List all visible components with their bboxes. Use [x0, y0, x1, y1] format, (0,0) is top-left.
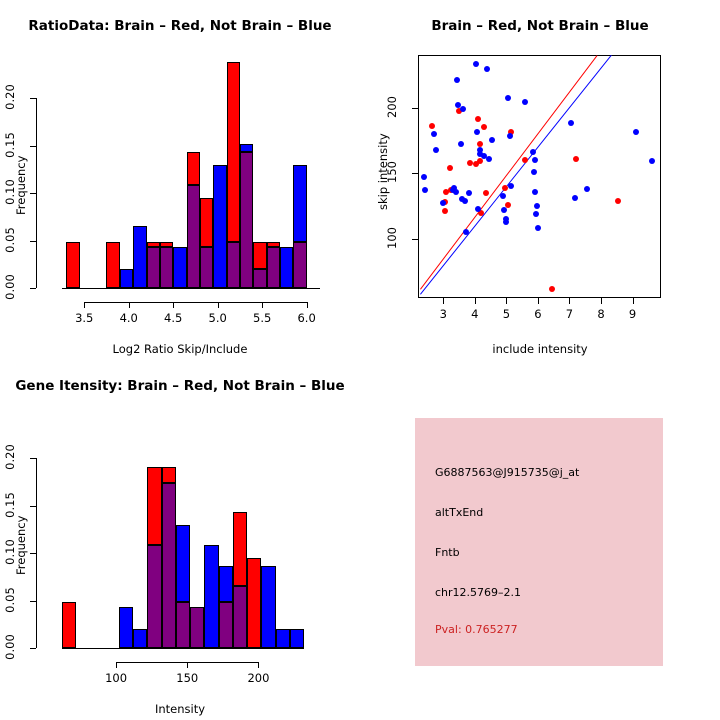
- scatter-point: [489, 137, 495, 143]
- scatter-point: [429, 123, 435, 129]
- scatter-point: [522, 99, 528, 105]
- y-tick-label: 200: [385, 89, 399, 125]
- y-tick: [30, 241, 36, 242]
- hist-bar: [162, 467, 176, 483]
- x-tick: [538, 298, 539, 304]
- scatter-point: [483, 190, 489, 196]
- hist-bar: [240, 144, 253, 153]
- hist-bar-overlap: [160, 247, 173, 288]
- x-tick-label: 3.5: [62, 311, 106, 325]
- x-baseline: [62, 648, 304, 649]
- scatter-point: [532, 157, 538, 163]
- scatter-point: [649, 158, 655, 164]
- y-tick-label: 150: [385, 154, 399, 190]
- scatter-point: [473, 61, 479, 67]
- scatter-point: [549, 286, 555, 292]
- y-tick-label: 100: [385, 220, 399, 256]
- y-tick: [30, 648, 36, 649]
- y-tick: [30, 146, 36, 147]
- y-tick: [30, 288, 36, 289]
- hist-bar: [261, 566, 275, 648]
- x-tick: [443, 298, 444, 304]
- scatter-point: [447, 165, 453, 171]
- y-axis-line: [36, 458, 37, 648]
- y-tick-label: 0.15: [3, 487, 17, 523]
- scatter-point: [442, 208, 448, 214]
- panel-ratio-histogram: RatioData: Brain – Red, Not Brain – Blue…: [0, 0, 360, 360]
- x-tick-label: 4.0: [107, 311, 151, 325]
- x-tick-label: 5.0: [196, 311, 240, 325]
- scatter-point: [532, 189, 538, 195]
- y-tick: [412, 108, 418, 109]
- scatter-point: [477, 158, 483, 164]
- scatter-point: [502, 185, 508, 191]
- scatter-point: [507, 133, 513, 139]
- x-axis-line: [84, 302, 306, 303]
- scatter-point: [533, 211, 539, 217]
- scatter-point: [505, 95, 511, 101]
- scatter-point: [475, 116, 481, 122]
- scatter-point: [584, 186, 590, 192]
- hist-bar: [200, 198, 213, 247]
- scatter-point: [477, 147, 483, 153]
- hist-bar-overlap: [267, 247, 280, 288]
- y-tick-label: 0.00: [3, 269, 17, 305]
- y-tick: [30, 506, 36, 507]
- x-tick: [258, 662, 259, 668]
- hist-bar: [120, 269, 133, 288]
- x-tick: [218, 302, 219, 308]
- info-gene-symbol: Fntb: [435, 546, 460, 559]
- hist-bar: [290, 629, 304, 648]
- x-tick-label: 9: [615, 307, 651, 321]
- scatter-point: [421, 174, 427, 180]
- y-tick: [30, 193, 36, 194]
- scatter-point: [460, 106, 466, 112]
- hist-bar-overlap: [147, 247, 160, 288]
- figure-canvas: RatioData: Brain – Red, Not Brain – Blue…: [0, 0, 720, 720]
- hist-bar: [133, 629, 147, 648]
- y-tick: [30, 601, 36, 602]
- x-tick: [601, 298, 602, 304]
- ratio-plot-area: 0.000.050.100.150.203.54.04.55.05.56.0: [0, 0, 360, 360]
- x-tick: [187, 662, 188, 668]
- scatter-point: [633, 129, 639, 135]
- info-event-type: altTxEnd: [435, 506, 483, 519]
- scatter-point: [573, 156, 579, 162]
- x-tick: [506, 298, 507, 304]
- info-box: G6887563@J915735@j_at altTxEnd Fntb chr1…: [415, 418, 663, 666]
- y-tick-label: 0.20: [3, 79, 17, 115]
- hist-bar: [62, 602, 76, 648]
- scatter-point: [454, 77, 460, 83]
- scatter-point: [568, 120, 574, 126]
- scatter-point: [466, 190, 472, 196]
- scatter-point: [486, 156, 492, 162]
- y-tick: [412, 173, 418, 174]
- x-tick-label: 6.0: [285, 311, 329, 325]
- hist-bar-overlap: [162, 483, 176, 648]
- x-baseline: [62, 288, 320, 289]
- hist-bar: [213, 165, 226, 289]
- x-tick: [307, 302, 308, 308]
- hist-bar: [147, 467, 161, 546]
- scatter-point: [481, 124, 487, 130]
- hist-bar-overlap: [233, 586, 247, 648]
- scatter-point: [500, 193, 506, 199]
- info-pval: Pval: 0.765277: [435, 623, 518, 636]
- x-tick-label: 200: [236, 671, 280, 685]
- gene-plot-area: 0.000.050.100.150.20100150200: [0, 360, 360, 720]
- scatter-point: [422, 187, 428, 193]
- hist-bar: [187, 152, 200, 185]
- y-tick-label: 0.10: [3, 534, 17, 570]
- y-tick: [412, 239, 418, 240]
- scatter-point: [503, 219, 509, 225]
- scatter-point: [467, 160, 473, 166]
- scatter-point: [530, 149, 536, 155]
- hist-bar-overlap: [187, 185, 200, 288]
- hist-bar: [133, 226, 146, 288]
- hist-bar: [247, 558, 261, 648]
- info-probe-id: G6887563@J915735@j_at: [435, 466, 579, 479]
- scatter-point: [440, 200, 446, 206]
- hist-bar-overlap: [227, 242, 240, 288]
- hist-bar-overlap: [293, 242, 306, 288]
- regression-line: [420, 55, 612, 295]
- y-tick: [30, 458, 36, 459]
- hist-bar: [293, 165, 306, 243]
- scatter-point: [534, 203, 540, 209]
- x-tick-label: 5.5: [240, 311, 284, 325]
- scatter-point: [572, 195, 578, 201]
- hist-bar: [280, 247, 293, 288]
- hist-bar: [253, 242, 266, 269]
- scatter-point: [531, 169, 537, 175]
- scatter-point: [508, 183, 514, 189]
- hist-bar-overlap: [200, 247, 213, 288]
- scatter-plot-area: 1001502003456789: [360, 0, 720, 360]
- scatter-clip: [418, 55, 661, 298]
- x-tick: [84, 302, 85, 308]
- hist-bar-overlap: [147, 545, 161, 648]
- x-tick: [116, 662, 117, 668]
- hist-bar: [219, 566, 233, 602]
- scatter-point: [462, 198, 468, 204]
- x-tick: [475, 298, 476, 304]
- hist-bar: [66, 242, 79, 288]
- x-tick: [262, 302, 263, 308]
- y-axis-line: [36, 98, 37, 288]
- scatter-point: [535, 225, 541, 231]
- y-tick-label: 0.00: [3, 629, 17, 665]
- scatter-point: [433, 147, 439, 153]
- x-tick: [633, 298, 634, 304]
- scatter-point: [453, 189, 459, 195]
- scatter-point: [475, 206, 481, 212]
- regression-line: [420, 55, 598, 289]
- hist-bar-overlap: [219, 602, 233, 648]
- scatter-point: [431, 131, 437, 137]
- hist-bar: [204, 545, 218, 648]
- y-tick: [30, 553, 36, 554]
- hist-bar: [173, 247, 186, 288]
- x-tick: [569, 298, 570, 304]
- y-tick-label: 0.15: [3, 127, 17, 163]
- x-tick: [129, 302, 130, 308]
- hist-bar-overlap: [190, 607, 204, 648]
- hist-bar-overlap: [176, 602, 190, 648]
- hist-bar: [106, 242, 119, 288]
- hist-bar: [276, 629, 290, 648]
- scatter-point: [615, 198, 621, 204]
- y-tick: [30, 98, 36, 99]
- hist-bar: [233, 512, 247, 586]
- hist-bar: [119, 607, 133, 648]
- scatter-point: [501, 207, 507, 213]
- scatter-point: [458, 141, 464, 147]
- y-tick-label: 0.05: [3, 222, 17, 258]
- hist-bar: [176, 525, 190, 603]
- y-tick-label: 0.20: [3, 439, 17, 475]
- y-tick-label: 0.05: [3, 582, 17, 618]
- scatter-point: [474, 129, 480, 135]
- panel-intensity-scatter: Brain – Red, Not Brain – Blue skip inten…: [360, 0, 720, 360]
- scatter-point: [484, 66, 490, 72]
- x-tick-label: 100: [94, 671, 138, 685]
- x-tick-label: 4.5: [151, 311, 195, 325]
- scatter-point: [522, 157, 528, 163]
- hist-bar-overlap: [253, 269, 266, 288]
- hist-bar-overlap: [240, 152, 253, 288]
- hist-bar: [227, 62, 240, 243]
- panel-gene-intensity-histogram: Gene Itensity: Brain – Red, Not Brain – …: [0, 360, 360, 720]
- panel-annotation: G6887563@J915735@j_at altTxEnd Fntb chr1…: [360, 360, 720, 720]
- x-tick: [173, 302, 174, 308]
- info-locus: chr12.5769–2.1: [435, 586, 521, 599]
- x-tick-label: 150: [165, 671, 209, 685]
- y-tick-label: 0.10: [3, 174, 17, 210]
